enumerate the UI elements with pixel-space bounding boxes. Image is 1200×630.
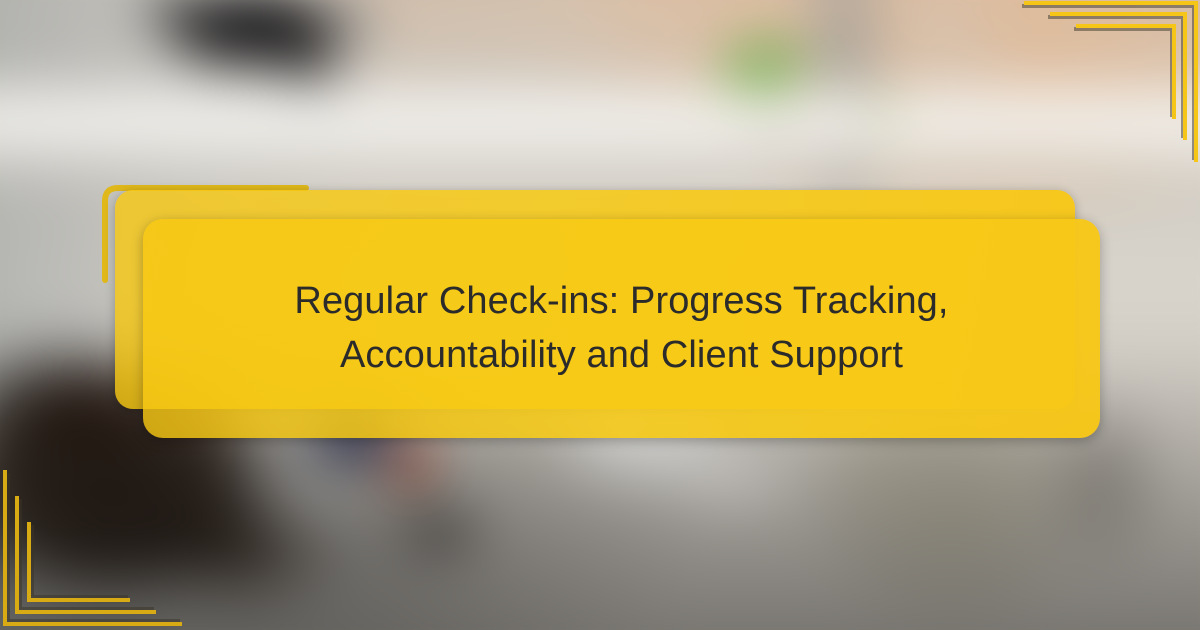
title-card-group: Regular Check-ins: Progress Tracking, Ac… [0, 0, 1200, 630]
page-title: Regular Check-ins: Progress Tracking, Ac… [242, 275, 1002, 383]
share-card-canvas: Regular Check-ins: Progress Tracking, Ac… [0, 0, 1200, 630]
title-card: Regular Check-ins: Progress Tracking, Ac… [143, 219, 1100, 438]
